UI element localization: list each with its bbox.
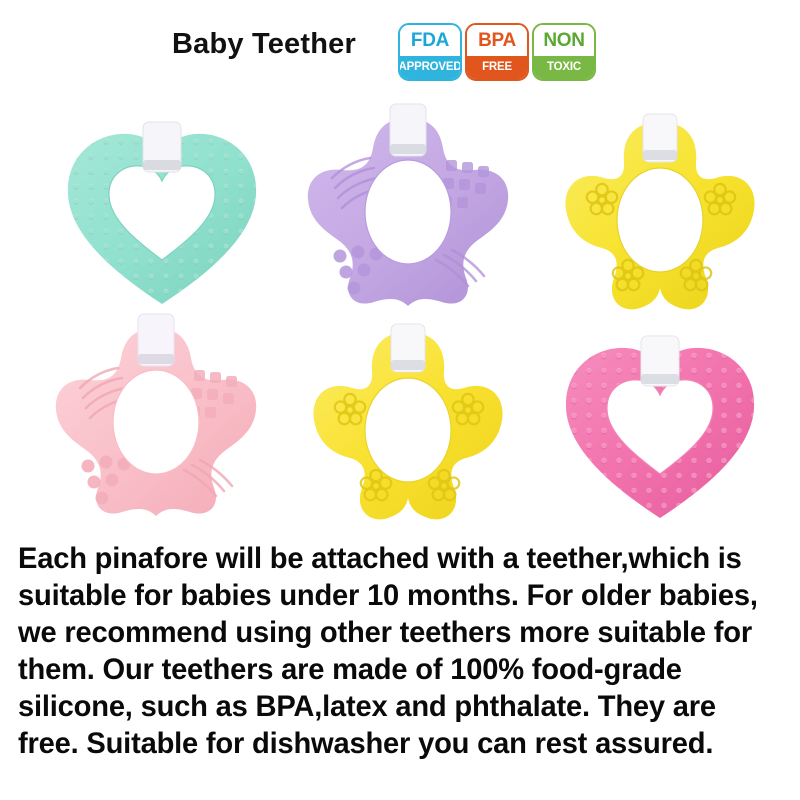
product-description: Each pinafore will be attached with a te… — [18, 540, 761, 762]
bpa-free-badge: BPA FREE — [465, 23, 529, 81]
teether-clip — [390, 104, 426, 156]
product-grid — [0, 100, 800, 530]
teether-clip — [641, 336, 679, 386]
product-cell-3 — [540, 108, 780, 318]
teether-flower-yellow — [540, 108, 780, 318]
teether-clip — [391, 324, 425, 372]
non-toxic-badge: NON TOXIC — [532, 23, 596, 81]
product-cell-2 — [288, 100, 528, 310]
product-cell-5 — [288, 318, 528, 528]
teether-heart-mint — [42, 108, 282, 318]
non-badge-top-label: NON — [534, 25, 594, 56]
teether-star-lilac — [288, 100, 528, 310]
teether-clip — [643, 114, 677, 162]
fda-approved-badge: FDA APPROVED — [398, 23, 462, 81]
certification-badges: FDA APPROVED BPA FREE NON TOXIC — [398, 23, 596, 81]
header: Baby Teether FDA APPROVED BPA FREE NON T… — [0, 0, 800, 100]
non-badge-bottom-label: TOXIC — [534, 56, 594, 79]
product-image: Baby Teether FDA APPROVED BPA FREE NON T… — [0, 0, 800, 800]
fda-badge-bottom-label: APPROVED — [400, 56, 460, 79]
product-cell-6 — [540, 322, 780, 532]
fda-badge-top-label: FDA — [400, 25, 460, 56]
teether-clip — [138, 314, 174, 366]
bpa-badge-top-label: BPA — [467, 25, 527, 56]
teether-clip — [143, 122, 181, 172]
teether-flower-yellow-2 — [288, 318, 528, 528]
teether-heart-magenta — [540, 322, 780, 532]
product-cell-4 — [36, 310, 276, 520]
teether-star-pink — [36, 310, 276, 520]
bpa-badge-bottom-label: FREE — [467, 56, 527, 79]
page-title: Baby Teether — [172, 28, 356, 61]
description-text: Each pinafore will be attached with a te… — [18, 540, 761, 762]
product-cell-1 — [42, 108, 282, 318]
